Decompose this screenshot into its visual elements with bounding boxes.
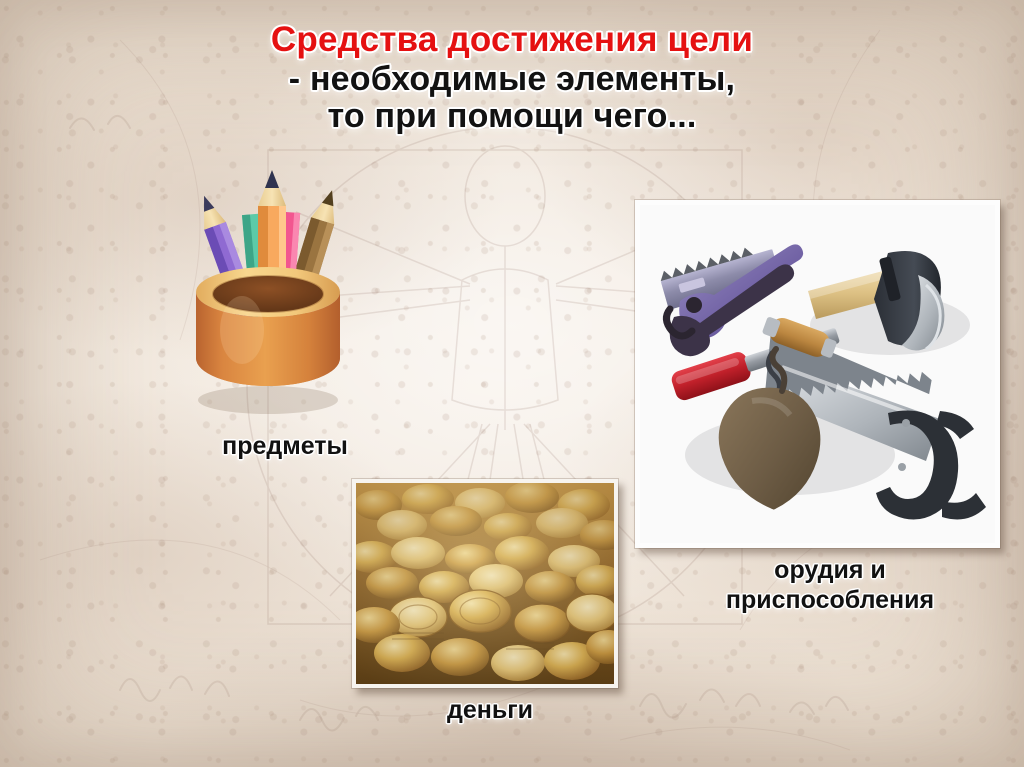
title-line-1: Средства достижения цели — [0, 22, 1024, 58]
caption-tools-line-2: приспособления — [726, 586, 934, 614]
tools-photo — [635, 200, 1000, 548]
title-line-2: - необходимые элементы, — [0, 62, 1024, 97]
caption-objects: предметы — [150, 432, 420, 462]
hand-tools-image — [640, 205, 995, 543]
caption-tools: орудия и приспособления — [650, 556, 1010, 615]
slide-canvas: Средства достижения цели - необходимые э… — [0, 0, 1024, 767]
money-photo — [352, 479, 618, 688]
title-line-3: то при помощи чего... — [0, 99, 1024, 134]
pencil-cup-illustration — [172, 162, 362, 427]
title-block: Средства достижения цели - необходимые э… — [0, 22, 1024, 134]
caption-tools-line-1: орудия и — [774, 556, 886, 584]
gold-coins-image — [356, 483, 614, 684]
caption-money: деньги — [370, 696, 610, 726]
